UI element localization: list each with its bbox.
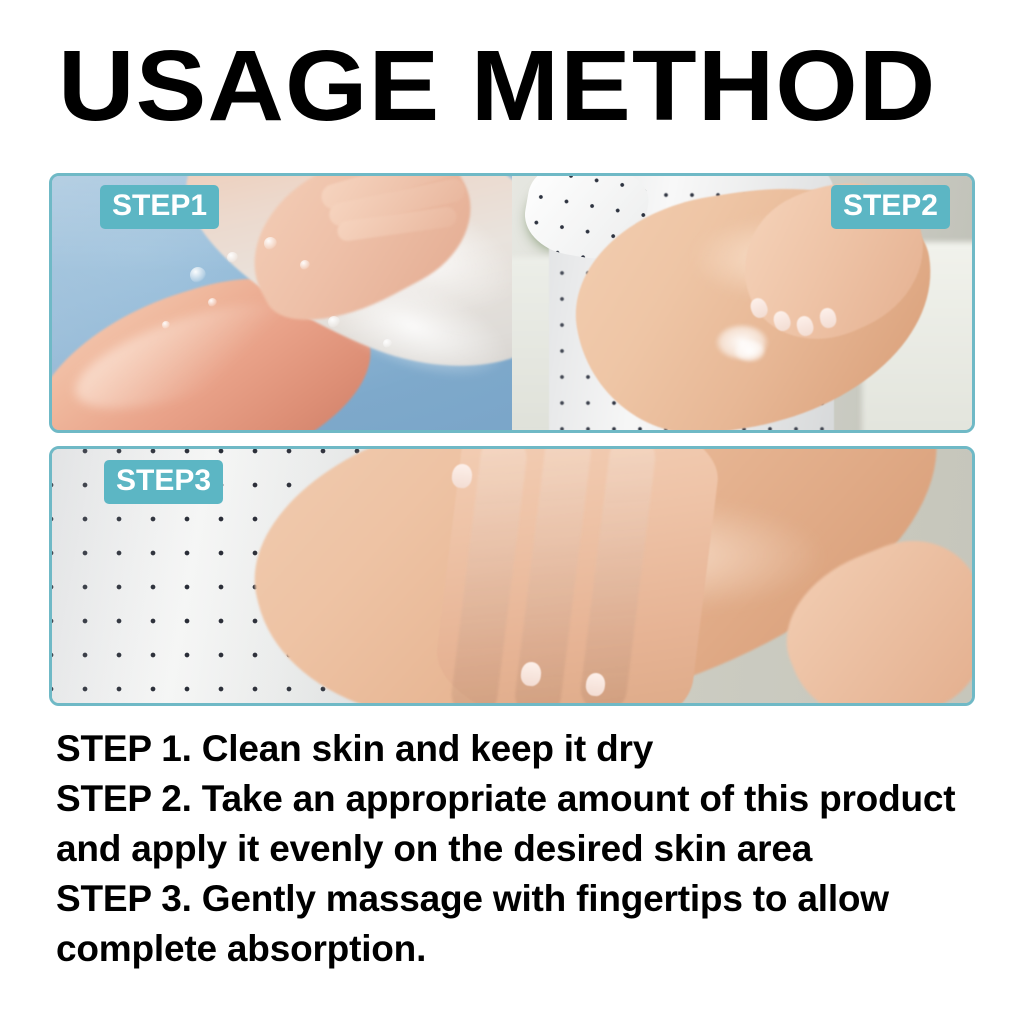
step2-photo: STEP2 (512, 176, 972, 430)
step1-photo: STEP1 (52, 176, 512, 430)
steps-bottom-row-frame: STEP3 (49, 446, 975, 706)
step1-badge: STEP1 (100, 185, 219, 229)
step2-badge: STEP2 (831, 185, 950, 229)
usage-method-infographic: USAGE METHOD STEP1 (0, 0, 1024, 1024)
usage-instructions: STEP 1. Clean skin and keep it dry STEP … (56, 724, 996, 974)
step2-cream-dab (733, 339, 775, 369)
instruction-line: complete absorption. (56, 924, 996, 974)
step1-soap-bubble (227, 252, 238, 263)
step1-soap-bubble (328, 316, 340, 328)
page-title: USAGE METHOD (58, 34, 1024, 138)
instruction-line: STEP 2. Take an appropriate amount of th… (56, 774, 996, 824)
instruction-line: STEP 1. Clean skin and keep it dry (56, 724, 996, 774)
step3-photo: STEP3 (52, 449, 972, 703)
instruction-line: STEP 3. Gently massage with fingertips t… (56, 874, 996, 924)
step1-soap-bubble (383, 339, 392, 348)
instruction-line: and apply it evenly on the desired skin … (56, 824, 996, 874)
step1-soap-bubble (264, 237, 277, 250)
step3-badge: STEP3 (104, 460, 223, 504)
steps-top-row-frame: STEP1 STEP2 (49, 173, 975, 433)
